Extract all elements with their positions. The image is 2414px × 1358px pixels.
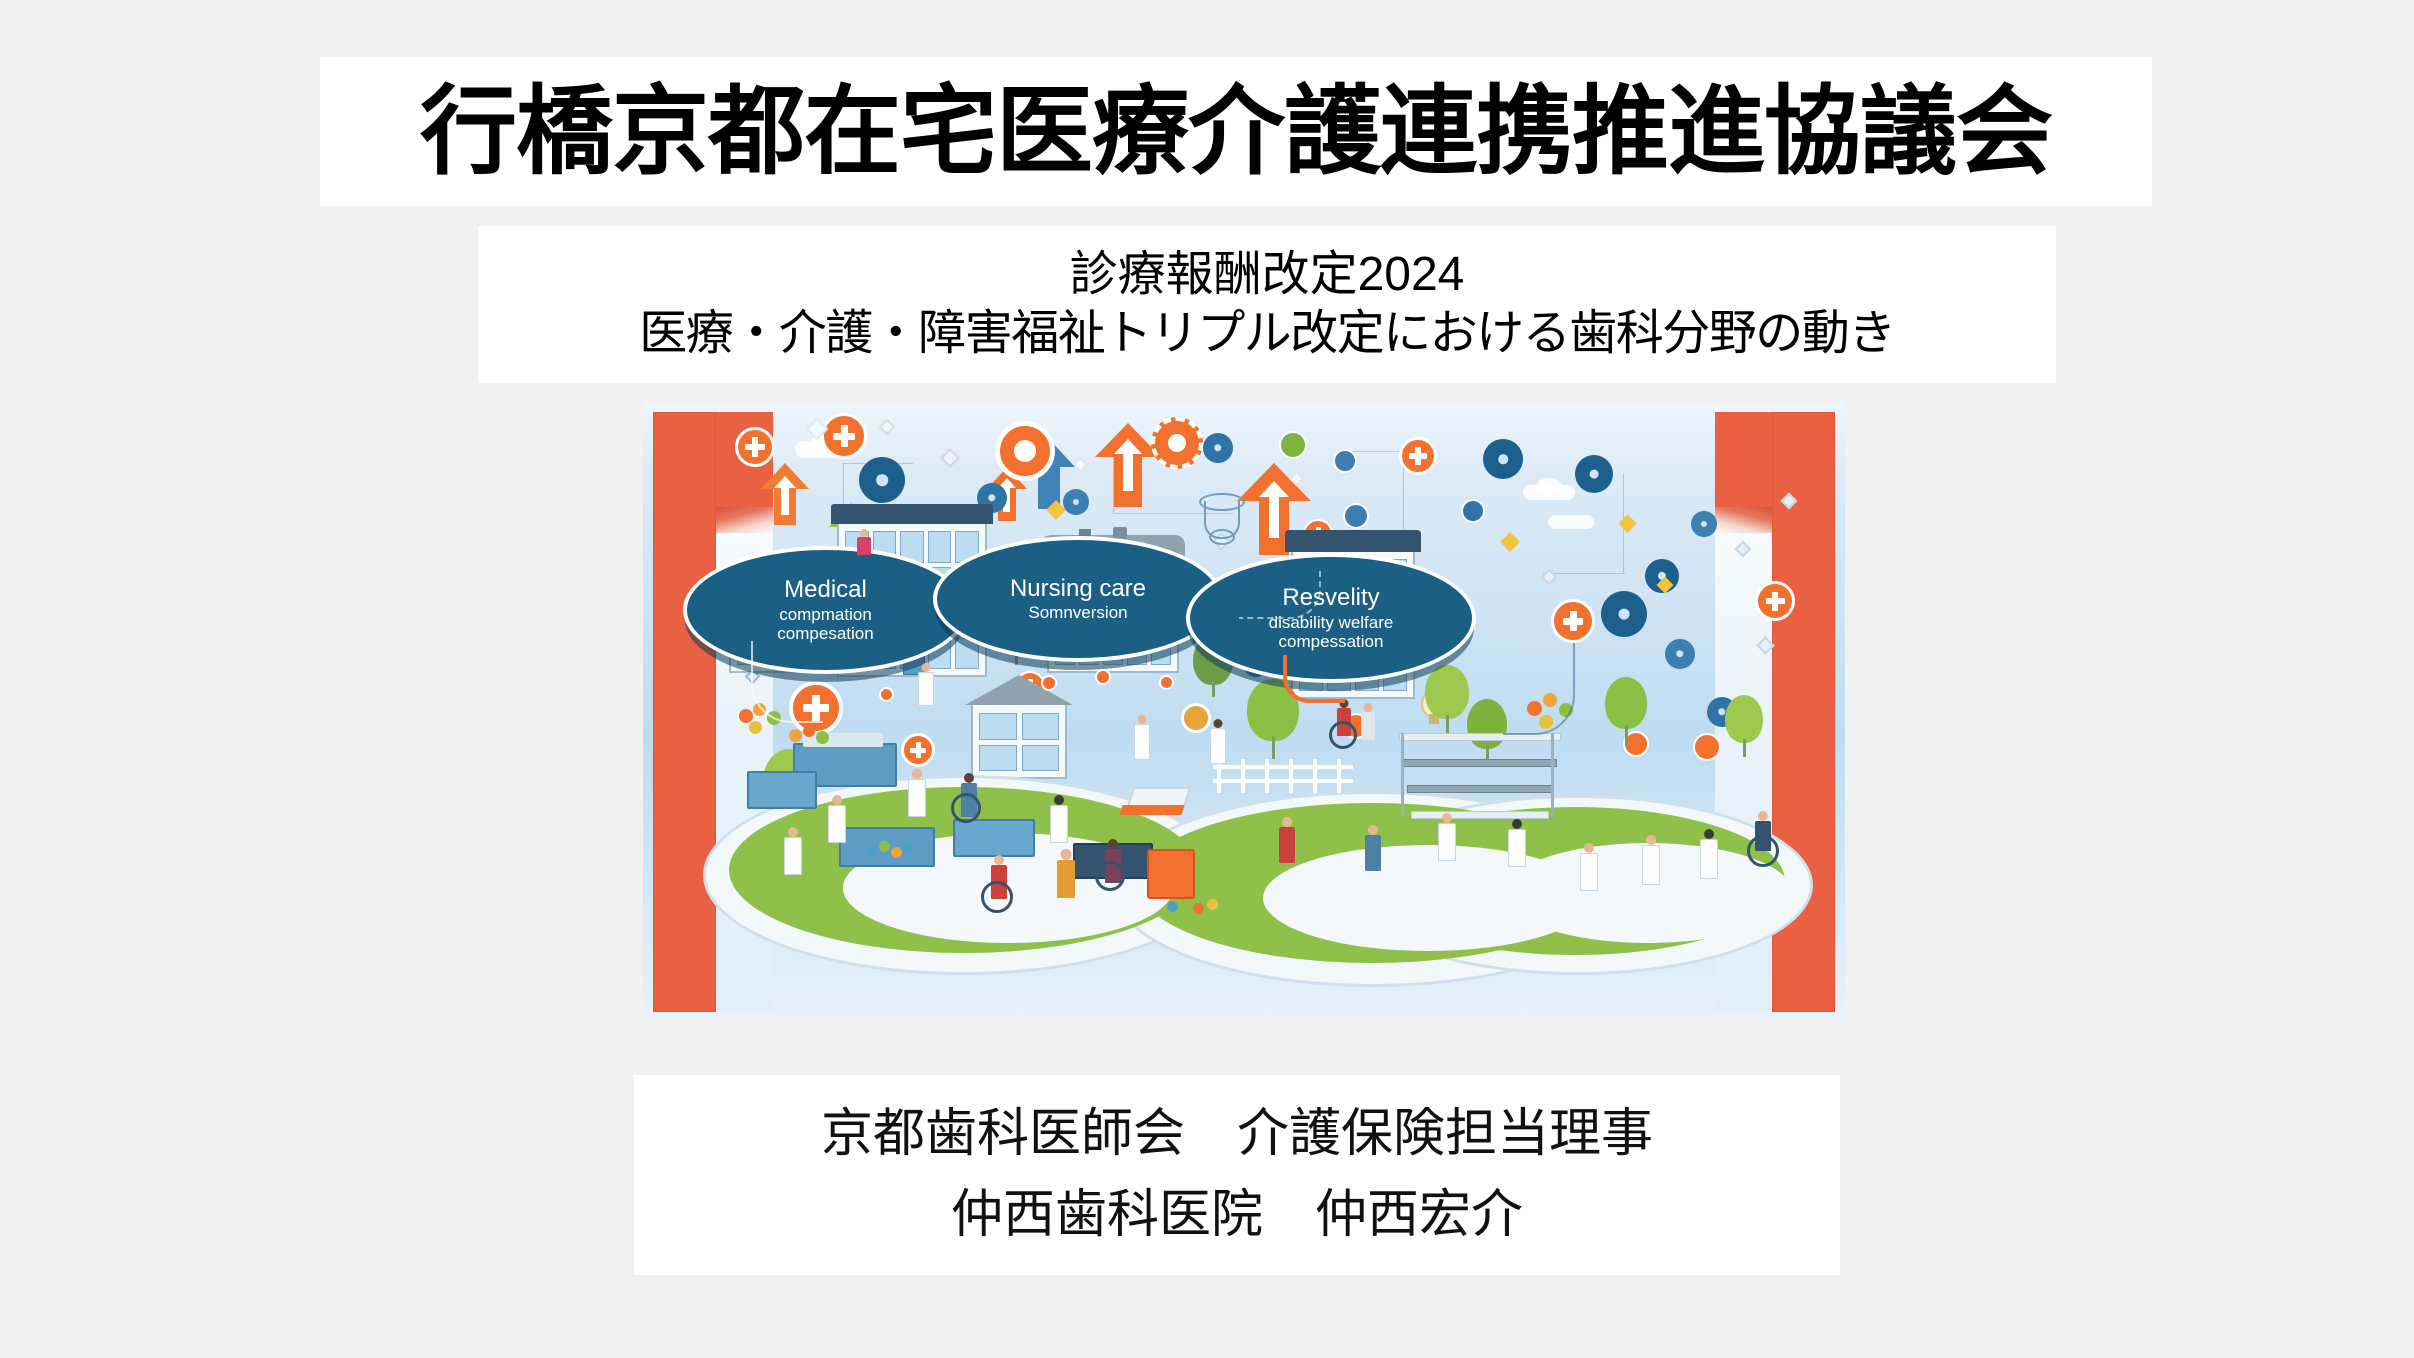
doctor-figure — [1439, 813, 1455, 861]
title-panel: 行橋京都在宅医療介護連携推進協議会 — [320, 57, 2152, 206]
wheelchair-wheel — [951, 793, 981, 823]
medical-cross-badge — [735, 427, 775, 467]
presentation-slide: 行橋京都在宅医療介護連携推進協議会 診療報酬改定2024 医療・介護・障害福祉ト… — [0, 0, 2414, 1358]
connection-node — [1095, 669, 1111, 685]
mat-edge — [1119, 805, 1184, 815]
accessibility-icon — [1343, 503, 1369, 529]
curved-connector — [1503, 643, 1575, 735]
ellipse-subtitle-1: compmation — [779, 605, 872, 624]
doctor-figure — [1509, 819, 1525, 867]
wheelchair-wheel — [981, 881, 1013, 913]
supply-shelf — [1399, 733, 1559, 819]
doctor-figure — [1135, 715, 1149, 759]
cyclist-figure — [857, 529, 871, 555]
ellipse-subtitle-1: Somnversion — [1028, 603, 1127, 622]
gear-icon — [859, 457, 905, 503]
gear-icon — [1483, 439, 1523, 479]
person-icon — [1461, 499, 1485, 523]
patient-bed — [953, 819, 1035, 857]
presenter-affiliation: 京都歯科医師会 介護保険担当理事 — [821, 1094, 1653, 1175]
tree-icon — [1425, 665, 1469, 735]
flower-cluster — [1167, 899, 1227, 923]
doctor-figure — [785, 827, 801, 875]
gear-icon — [1601, 591, 1647, 637]
right-band-notch — [1715, 412, 1772, 516]
cloud-icon — [1548, 515, 1594, 529]
medical-cross-badge — [901, 733, 935, 767]
up-arrow-icon — [761, 463, 809, 525]
flower-cluster — [789, 725, 833, 755]
doctor-figure — [1051, 795, 1067, 843]
equipment-cabinet — [1147, 849, 1195, 899]
doctor-figure — [829, 795, 845, 843]
gear-icon — [1203, 433, 1233, 463]
doctor-figure — [1701, 829, 1717, 879]
ellipse-nursing-care: Nursing care Somnversion — [933, 536, 1223, 662]
container-icon — [1199, 493, 1241, 545]
wheelchair-wheel — [1747, 835, 1779, 867]
gear-icon — [1665, 639, 1695, 669]
fence — [1213, 759, 1353, 793]
person-icon — [1333, 449, 1357, 473]
patient-figure — [1361, 703, 1375, 743]
sunburst-icon — [1151, 417, 1203, 469]
triple-revision-infographic: Medical compmation compesation Nursing c… — [643, 403, 1845, 1020]
doctor-figure — [1211, 719, 1225, 763]
left-orange-band — [653, 412, 716, 1012]
wheelchair-wheel — [1329, 721, 1357, 749]
doctor-figure — [909, 769, 925, 817]
page-title: 行橋京都在宅医療介護連携推進協議会 — [420, 83, 2052, 180]
connection-node — [879, 687, 894, 702]
medical-cross-badge — [1755, 581, 1795, 621]
doctor-figure — [1643, 835, 1659, 885]
patient-bed — [747, 771, 817, 809]
presenter-info-panel: 京都歯科医師会 介護保険担当理事 仲西歯科医院 仲西宏介 — [634, 1075, 1840, 1275]
patient-figure — [1057, 849, 1075, 899]
tree-icon — [1725, 695, 1763, 757]
leaf-icon — [1279, 431, 1307, 459]
presenter-name: 仲西歯科医院 仲西宏介 — [951, 1175, 1523, 1256]
medical-cross-badge — [821, 413, 867, 459]
medical-cross-badge — [1551, 599, 1595, 643]
doctor-figure — [919, 663, 933, 705]
gear-icon — [1691, 511, 1717, 537]
tree-icon — [1605, 677, 1647, 745]
staff-figure — [1279, 817, 1295, 865]
wheelchair-wheel — [1095, 861, 1125, 891]
ellipse-medical-compensation: Medical compmation compesation — [683, 546, 968, 674]
pill-icon — [1693, 733, 1721, 761]
orange-connector — [1283, 655, 1345, 703]
connection-node — [1159, 675, 1174, 690]
right-band-fold — [1715, 507, 1772, 533]
curved-connector — [751, 641, 823, 723]
ellipse-subtitle-2: compesation — [777, 624, 873, 643]
ellipse-subtitle-2: compessation — [1279, 632, 1384, 651]
sunburst-icon — [995, 421, 1055, 481]
medicine-drop-icon — [1181, 703, 1211, 733]
flower-cluster — [867, 841, 923, 867]
ellipse-title: Medical — [784, 577, 867, 602]
subtitle-line-2: 医療・介護・障害福祉トリプル改定における歯科分野の動き — [639, 305, 1895, 364]
gear-icon — [1575, 455, 1613, 493]
connection-node — [1041, 675, 1057, 691]
tube-connector — [1239, 571, 1321, 619]
subtitle-panel: 診療報酬改定2024 医療・介護・障害福祉トリプル改定における歯科分野の動き — [478, 226, 2056, 383]
cloud-icon — [1536, 478, 1562, 496]
ellipse-title: Nursing care — [1010, 576, 1146, 601]
gear-icon — [1063, 489, 1089, 515]
medical-cross-badge — [1399, 437, 1437, 475]
subtitle-line-1: 診療報酬改定2024 — [1070, 246, 1465, 305]
house-building — [971, 703, 1067, 779]
nurse-figure — [1365, 825, 1381, 873]
doctor-figure — [1581, 843, 1597, 891]
